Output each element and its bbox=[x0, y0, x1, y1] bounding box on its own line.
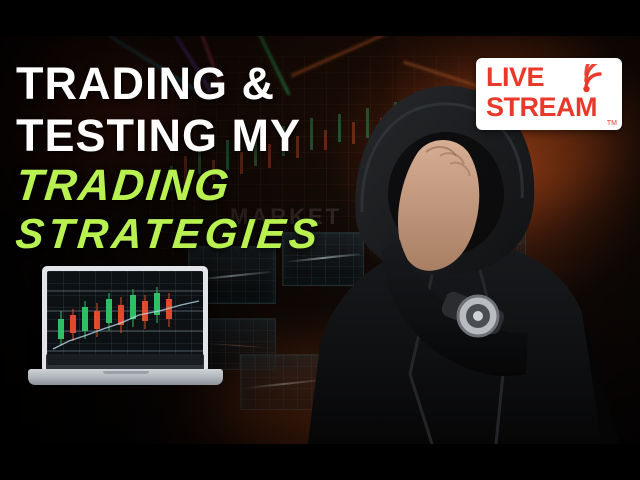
title-line-1: TRADING & bbox=[16, 58, 416, 110]
laptop-chart-grid bbox=[47, 271, 203, 365]
video-frame: MARKET bbox=[0, 36, 640, 444]
laptop-screen bbox=[47, 271, 203, 365]
title-line-3: TRADING bbox=[13, 162, 418, 210]
live-row: LIVE bbox=[486, 64, 544, 91]
title-block: TRADING & TESTING MY TRADING STRATEGIES bbox=[16, 58, 416, 258]
laptop-base bbox=[28, 369, 223, 385]
title-line-2: TESTING MY bbox=[16, 110, 416, 162]
laptop bbox=[28, 266, 223, 396]
trademark-label: TM bbox=[607, 120, 617, 127]
letterbox-bar-bottom bbox=[0, 444, 640, 480]
wifi-signal-icon bbox=[580, 64, 614, 94]
thumbnail-canvas: MARKET bbox=[0, 0, 640, 480]
live-label: LIVE bbox=[486, 64, 544, 91]
live-stream-badge: LIVE STREAM TM bbox=[476, 58, 622, 130]
title-line-4: STRATEGIES bbox=[13, 210, 418, 258]
letterbox-bar-top bbox=[0, 0, 640, 36]
stream-label: STREAM bbox=[486, 94, 597, 121]
laptop-keyboard bbox=[46, 354, 204, 370]
